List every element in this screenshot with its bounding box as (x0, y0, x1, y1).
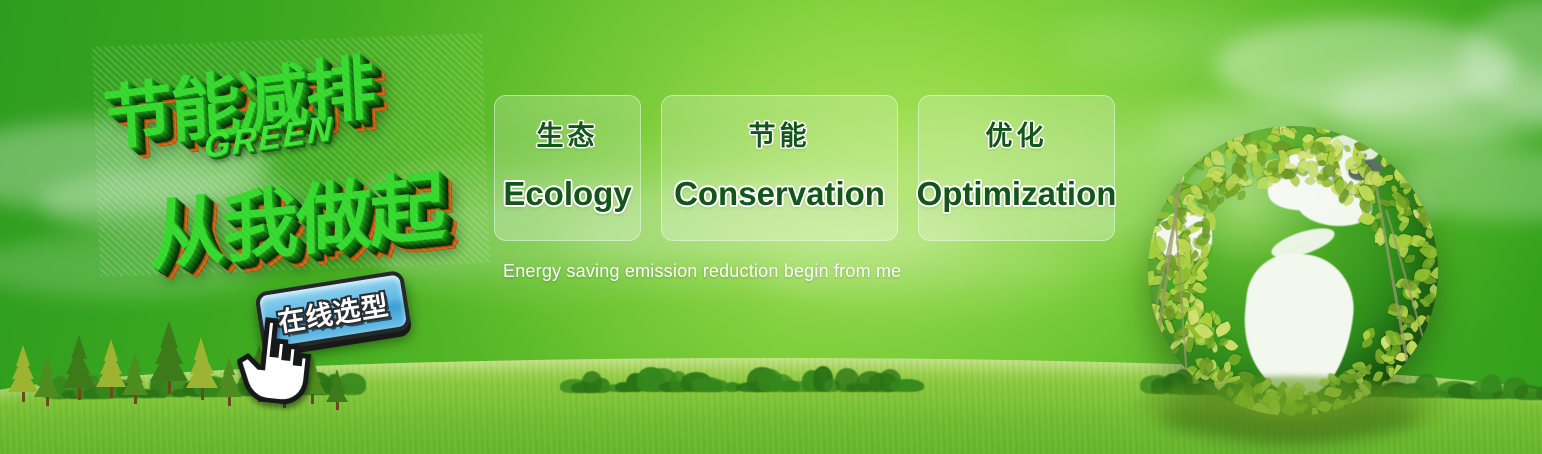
leafy-globe (1120, 108, 1460, 448)
conifer-tree-icon (326, 368, 348, 410)
hero-title-line3: 从我做起 (148, 144, 444, 285)
conifer-tree-icon (150, 320, 188, 394)
feature-card-zh-label: 生态 (537, 114, 599, 153)
globe-sphere (1148, 126, 1438, 416)
feature-card-en-label: Optimization (917, 175, 1117, 213)
conifer-tree-icon (186, 336, 218, 400)
leaf-icon (1152, 197, 1166, 211)
conifer-tree-icon (122, 352, 148, 404)
feature-card-en-label: Conservation (674, 175, 885, 213)
feature-card-zh-label: 优化 (986, 114, 1048, 153)
banner-tagline: Energy saving emission reduction begin f… (503, 261, 901, 282)
feature-card-conservation[interactable]: 节能 Conservation (661, 95, 898, 241)
feature-card-zh-label: 节能 (749, 114, 811, 153)
conifer-tree-icon (62, 334, 96, 400)
feature-cards: 生态 Ecology 节能 Conservation 优化 Optimizati… (494, 95, 1115, 241)
leaf-icon (1413, 192, 1424, 207)
globe-leaf-base (1126, 376, 1456, 446)
bush-icon (1536, 386, 1542, 400)
hand-pointer-icon (233, 307, 318, 406)
feature-card-optimization[interactable]: 优化 Optimization (918, 95, 1115, 241)
bush-icon (890, 379, 924, 392)
leaf-icon (1400, 182, 1410, 188)
hero-title-line3-text: 从我做起 (148, 161, 444, 281)
feature-card-en-label: Ecology (503, 175, 631, 213)
hero-title-art: 节能减排 GREEN 从我做起 (92, 33, 490, 276)
leaf-icon (1202, 218, 1209, 231)
feature-card-ecology[interactable]: 生态 Ecology (494, 95, 641, 241)
leaf-icon (1361, 338, 1373, 348)
leaf-icon (1405, 255, 1415, 263)
conifer-tree-icon (34, 356, 60, 406)
eco-hero-banner: 节能减排 GREEN 从我做起 在线选型 (0, 0, 1542, 454)
